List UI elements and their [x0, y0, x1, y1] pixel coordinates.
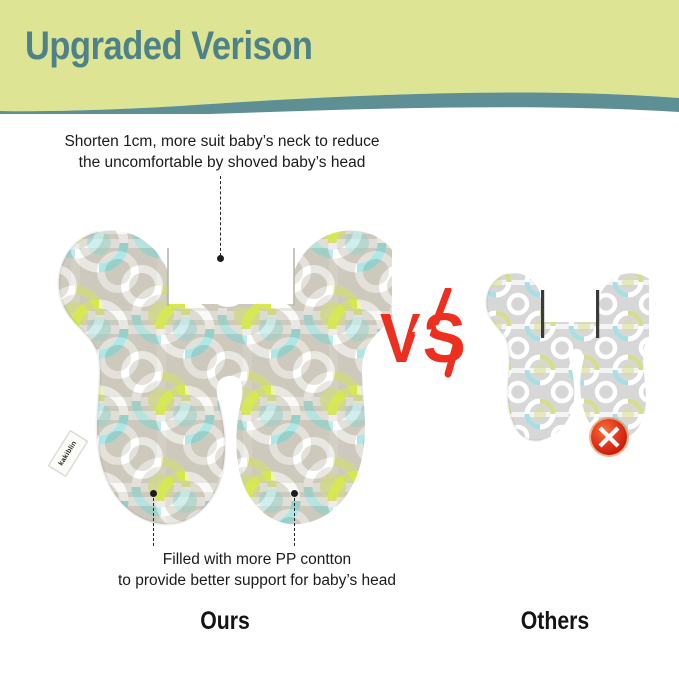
vs-icon: VS	[378, 288, 478, 390]
annotation-top: Shorten 1cm, more suit baby’s neck to re…	[22, 131, 422, 173]
ours-pillow-illustration	[32, 186, 392, 538]
leader-dot-bottom-left	[150, 490, 157, 497]
reject-badge	[587, 415, 631, 459]
caption-ours: Ours	[157, 607, 293, 636]
leader-dot-bottom-right	[291, 490, 298, 497]
annotation-bottom: Filled with more PP contton to provide b…	[96, 549, 418, 591]
leader-line-bottom-left	[153, 498, 154, 546]
comparison-infographic: Upgraded Verison Shorten 1cm, more suit …	[0, 0, 679, 679]
annotation-bottom-line-2: to provide better support for baby’s hea…	[96, 570, 418, 591]
caption-others: Others	[487, 607, 623, 636]
product-image-ours	[32, 186, 392, 538]
annotation-top-line-1: Shorten 1cm, more suit baby’s neck to re…	[22, 131, 422, 152]
versus-mark: VS	[378, 288, 478, 390]
annotation-top-line-2: the uncomfortable by shoved baby’s head	[22, 152, 422, 173]
x-mark-icon	[587, 415, 631, 459]
header-banner: Upgraded Verison	[0, 0, 679, 114]
annotation-bottom-line-1: Filled with more PP contton	[96, 549, 418, 570]
page-title: Upgraded Verison	[25, 20, 313, 72]
leader-line-bottom-right	[294, 498, 295, 546]
